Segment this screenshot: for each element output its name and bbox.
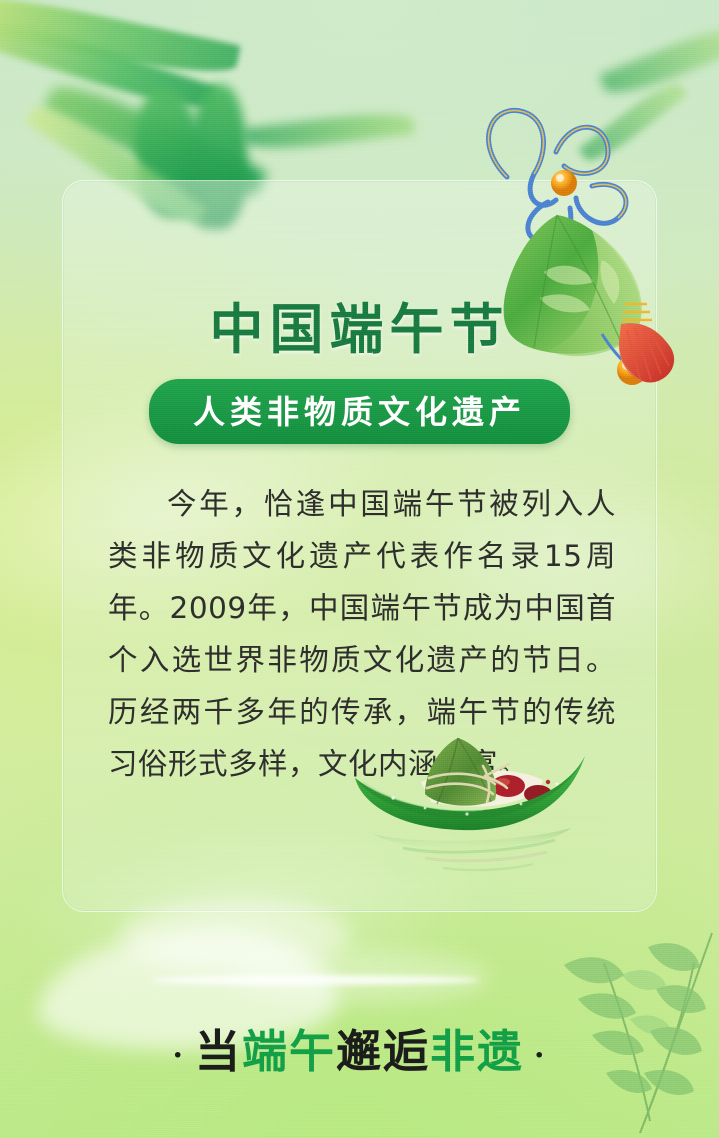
footer-slogan: ·当端午邂逅非遗· xyxy=(0,1015,719,1080)
cloud-mist-icon xyxy=(230,950,490,1004)
bamboo-leaf-icon xyxy=(578,76,687,169)
bamboo-leaf-icon xyxy=(243,108,415,155)
bamboo-leaf-icon xyxy=(0,10,219,120)
poster-root: 中国端午节 人类非物质文化遗产 今年，恰逢中国端午节被列入人类非物质文化遗产代表… xyxy=(0,0,719,1138)
bamboo-leaf-icon xyxy=(599,19,719,103)
cloud-mist-icon xyxy=(150,975,480,985)
slogan-seg-2: 端午 xyxy=(242,1025,336,1078)
slogan-seg-4: 非遗 xyxy=(430,1025,524,1078)
bamboo-leaf-icon xyxy=(0,0,241,85)
body-paragraph: 今年，恰逢中国端午节被列入人类非物质文化遗产代表作名录15周年。2009年，中国… xyxy=(108,478,616,790)
page-title: 中国端午节 xyxy=(0,285,719,364)
slogan-seg-3: 邂逅 xyxy=(336,1025,430,1078)
slogan-dot-left: · xyxy=(163,1038,195,1073)
status-badge: 人类非物质文化遗产 xyxy=(149,379,570,444)
slogan-dot-right: · xyxy=(524,1038,556,1073)
slogan-seg-1: 当 xyxy=(195,1025,242,1078)
badge-container: 人类非物质文化遗产 xyxy=(0,379,719,444)
